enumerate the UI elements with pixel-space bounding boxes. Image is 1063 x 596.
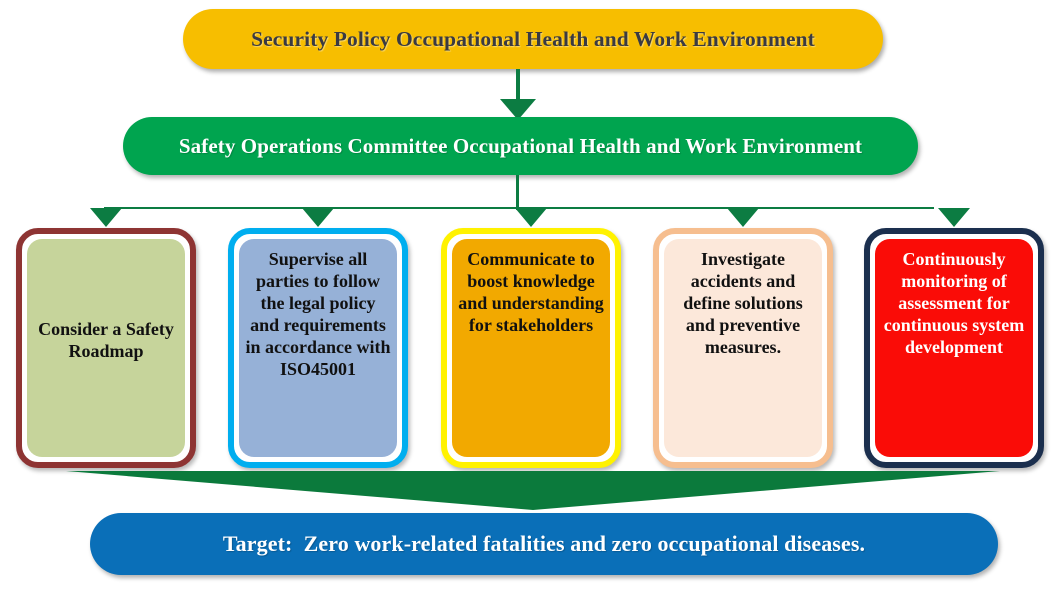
flowchart-canvas: Security Policy Occupational Health and … xyxy=(0,0,1063,596)
action-card-investigate[interactable]: Investigate accidents and define solutio… xyxy=(653,228,833,468)
action-card-monitoring-label: Continuously monitoring of assessment fo… xyxy=(881,249,1027,359)
action-card-roadmap[interactable]: Consider a Safety Roadmap xyxy=(16,228,196,468)
connector-bus-arrowhead-icon xyxy=(938,208,970,227)
policy-node[interactable]: Security Policy Occupational Health and … xyxy=(183,9,883,69)
action-card-investigate-label: Investigate accidents and define solutio… xyxy=(670,249,816,359)
connector-bus-stem xyxy=(516,175,519,210)
target-node-label: Target: Zero work-related fatalities and… xyxy=(223,531,865,557)
action-card-communicate[interactable]: Communicate to boost knowledge and under… xyxy=(441,228,621,468)
committee-node[interactable]: Safety Operations Committee Occupational… xyxy=(123,117,918,175)
connector-bus-arrowhead-icon xyxy=(727,208,759,227)
connector-bus-arrowhead-icon xyxy=(515,208,547,227)
action-card-investigate-body: Investigate accidents and define solutio… xyxy=(664,239,822,457)
committee-node-label: Safety Operations Committee Occupational… xyxy=(179,134,862,159)
connector-policy-to-committee-line xyxy=(516,69,520,103)
action-card-monitoring[interactable]: Continuously monitoring of assessment fo… xyxy=(864,228,1044,468)
action-card-roadmap-label: Consider a Safety Roadmap xyxy=(33,319,179,363)
action-card-communicate-body: Communicate to boost knowledge and under… xyxy=(452,239,610,457)
connector-bus-arrowhead-icon xyxy=(90,208,122,227)
action-card-supervise-label: Supervise all parties to follow the lega… xyxy=(245,249,391,381)
connector-funnel-arrowhead-icon xyxy=(66,471,1000,510)
action-card-supervise-body: Supervise all parties to follow the lega… xyxy=(239,239,397,457)
connector-bus-arrowhead-icon xyxy=(302,208,334,227)
target-node[interactable]: Target: Zero work-related fatalities and… xyxy=(90,513,998,575)
policy-node-label: Security Policy Occupational Health and … xyxy=(251,27,815,52)
action-card-roadmap-body: Consider a Safety Roadmap xyxy=(27,239,185,457)
action-card-communicate-label: Communicate to boost knowledge and under… xyxy=(458,249,604,337)
action-card-supervise[interactable]: Supervise all parties to follow the lega… xyxy=(228,228,408,468)
action-card-monitoring-body: Continuously monitoring of assessment fo… xyxy=(875,239,1033,457)
